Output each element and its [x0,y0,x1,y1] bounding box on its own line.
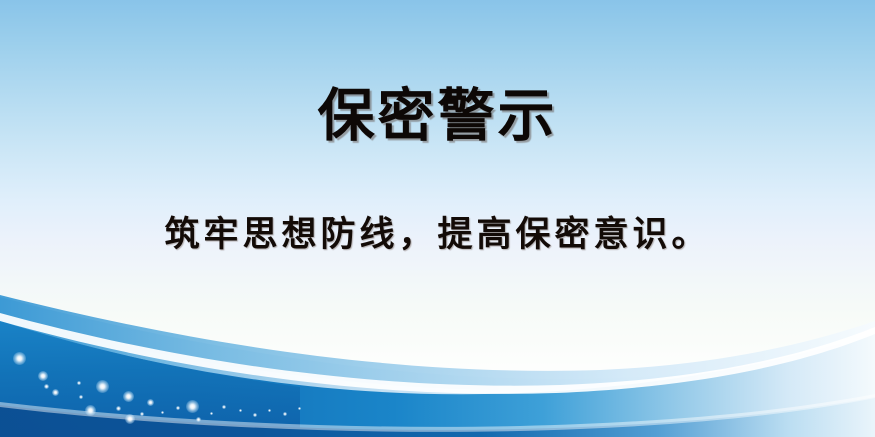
secrecy-warning-banner: 保密警示 筑牢思想防线，提高保密意识。 [0,0,875,437]
banner-subtitle: 筑牢思想防线，提高保密意识。 [0,211,875,259]
banner-title: 保密警示 [0,83,875,149]
wave-decoration [0,277,875,437]
